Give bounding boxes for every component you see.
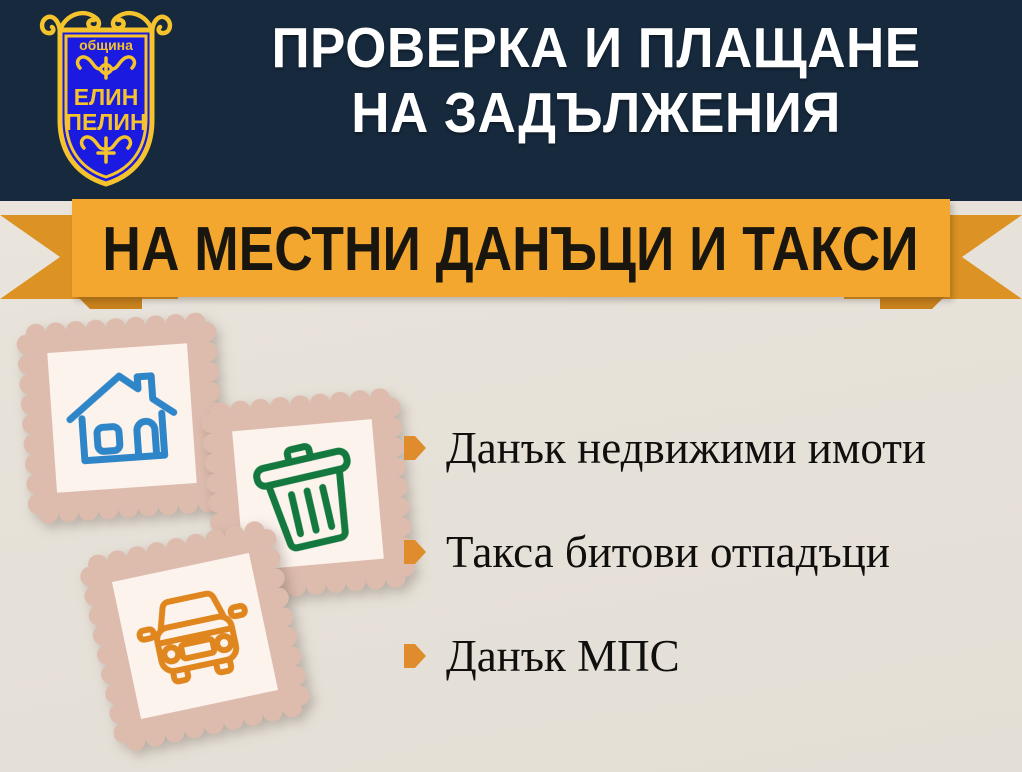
crest-text-obshtina: община (79, 37, 133, 53)
poster-canvas: ПРОВЕРКА И ПЛАЩАНЕ НА ЗАДЪЛЖЕНИЯ община (0, 0, 1022, 772)
crest-icon: община ЕЛИН ПЕЛИН (36, 8, 176, 190)
stamp-card-property-tax (15, 311, 228, 524)
house-icon-wrap (45, 341, 199, 495)
crest-text-pelin: ПЕЛИН (65, 109, 146, 135)
stamp-card-vehicle-tax (76, 517, 313, 754)
car-front-icon-wrap (110, 551, 281, 722)
list-item[interactable]: Данък недвижими имоти (404, 420, 1004, 476)
car-front-icon (124, 565, 266, 707)
crest-text-elin: ЕЛИН (74, 84, 139, 110)
house-icon (58, 354, 186, 482)
tax-types-list: Данък недвижими имоти Такса битови отпад… (404, 420, 1004, 732)
ribbon-text: НА МЕСТНИ ДАНЪЦИ И ТАКСИ (103, 215, 919, 281)
list-item[interactable]: Данък МПС (404, 628, 1004, 684)
ribbon-banner: НА МЕСТНИ ДАНЪЦИ И ТАКСИ (0, 199, 1022, 309)
page-title-line-2: НА ЗАДЪЛЖЕНИЯ (215, 81, 978, 146)
municipality-crest-logo: община ЕЛИН ПЕЛИН (36, 8, 176, 190)
arrow-bullet-icon (404, 436, 426, 460)
arrow-bullet-icon (404, 644, 426, 668)
list-item-label: Данък недвижими имоти (446, 424, 926, 472)
list-item-label: Данък МПС (446, 632, 680, 680)
list-item[interactable]: Такса битови отпадъци (404, 524, 1004, 580)
arrow-bullet-icon (404, 540, 426, 564)
page-title: ПРОВЕРКА И ПЛАЩАНЕ НА ЗАДЪЛЖЕНИЯ (215, 16, 978, 146)
list-item-label: Такса битови отпадъци (446, 528, 890, 576)
page-title-line-1: ПРОВЕРКА И ПЛАЩАНЕ (271, 16, 920, 80)
ribbon-main-panel: НА МЕСТНИ ДАНЪЦИ И ТАКСИ (72, 199, 950, 297)
